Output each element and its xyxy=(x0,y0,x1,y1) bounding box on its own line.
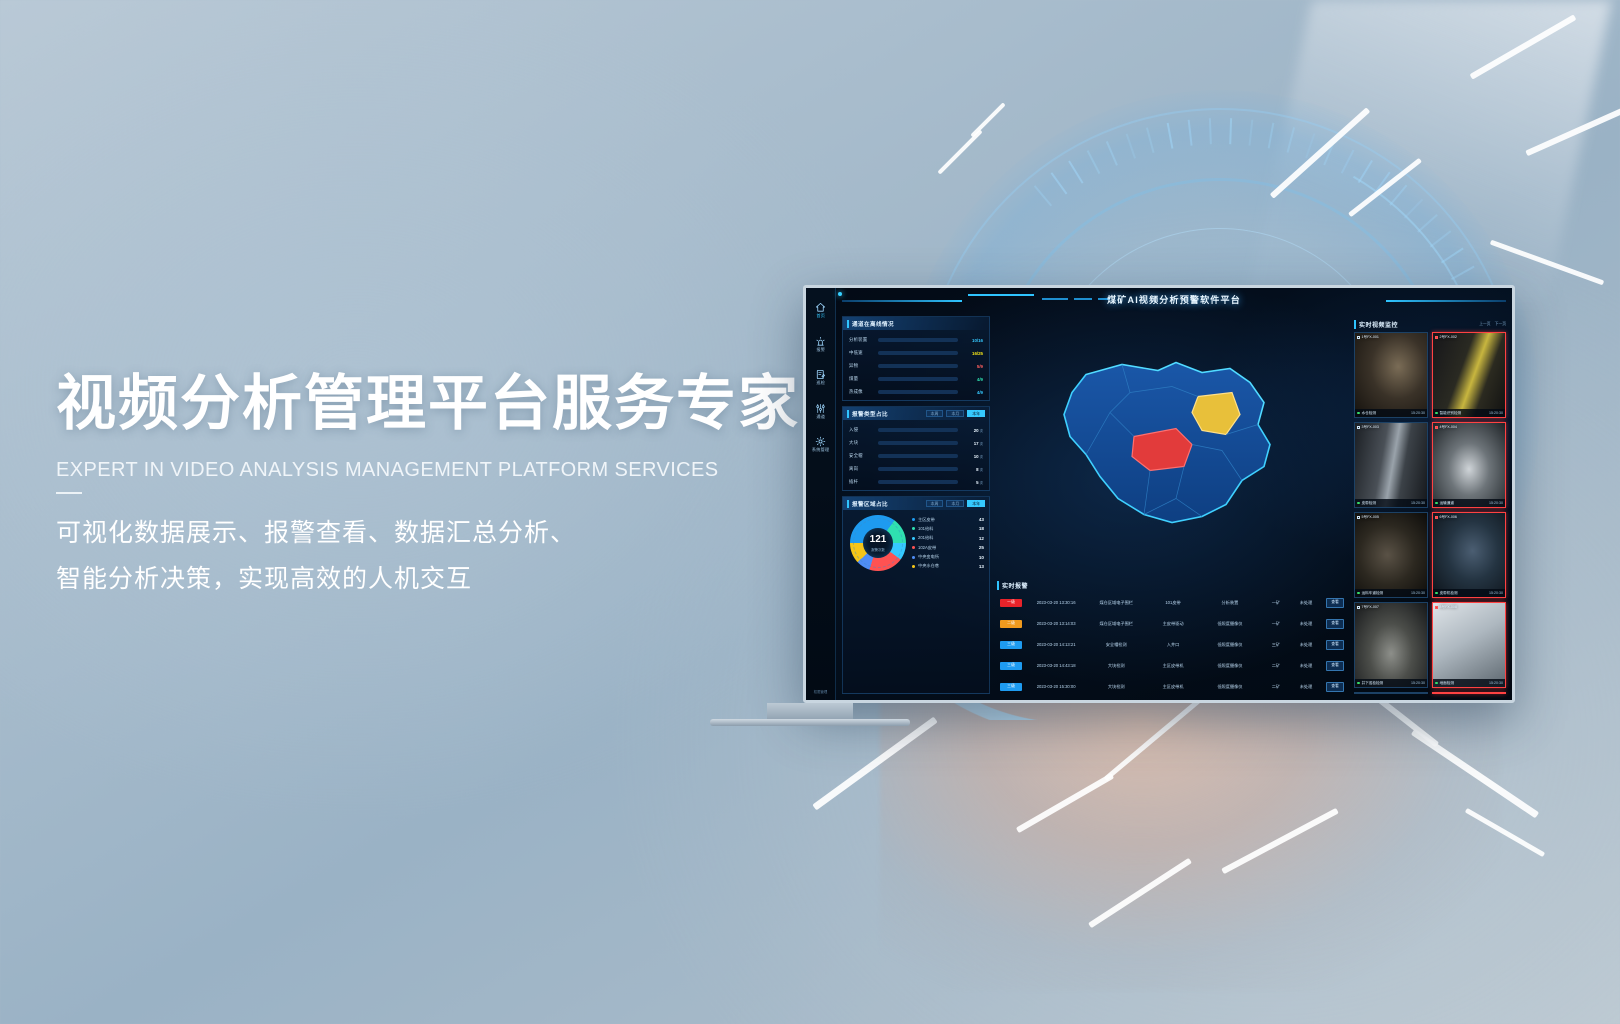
decor-tick xyxy=(1087,150,1101,174)
alarm-area-tabs: 本周本月本年 xyxy=(926,500,989,508)
camera-feed xyxy=(1433,513,1505,597)
alarm-action-cell: 查看 xyxy=(1321,655,1349,676)
alarm-type-cell: 大块检测 xyxy=(1085,676,1147,697)
camera-timestamp: 15:20:30 xyxy=(1411,501,1425,505)
alarm-type-row: 插杆5次 xyxy=(849,479,983,485)
camera-status-icon xyxy=(1435,606,1438,609)
alarm-time-cell: 2023-03-20 15:30:00 xyxy=(1027,676,1085,697)
channel-bar-track xyxy=(878,364,958,368)
camera-status-icon xyxy=(1435,426,1438,429)
camera-tile[interactable]: 8号FX-008地面检测15:20:30 xyxy=(1432,602,1506,688)
camera-feed xyxy=(1355,333,1427,417)
alarm-type-title: 报警类型占比 xyxy=(852,410,888,418)
home-icon xyxy=(815,302,826,313)
alarm-type-tab[interactable]: 本月 xyxy=(946,410,964,418)
camera-feed xyxy=(1433,333,1505,417)
alarm-device-cell: 分析装置 xyxy=(1199,592,1261,613)
camera-tile[interactable]: 9号FX-011矿车检测15:20:30 xyxy=(1354,692,1428,694)
camera-id: 6号FX-006 xyxy=(1435,515,1457,520)
camera-online-dot-icon xyxy=(1435,592,1438,595)
camera-timestamp: 15:20:30 xyxy=(1489,681,1503,685)
alarm-status-cell: 未处理 xyxy=(1291,613,1321,634)
sidebar-items: 首页报警巡检通道系统管理 xyxy=(808,302,834,470)
camera-tile[interactable]: 6号FX-006皮带机检测15:20:30 xyxy=(1432,512,1506,598)
alarm-type-label: 入侵 xyxy=(849,427,873,433)
alarm-area-legend: 主区皮带43101给料18201给料12102A皮带25中央变电所10中央水仓巷… xyxy=(912,517,984,570)
view-button[interactable]: 查看 xyxy=(1326,619,1344,629)
alarm-status-cell: 未处理 xyxy=(1291,634,1321,655)
alarm-device-cell: 低照度摄像仪 xyxy=(1199,613,1261,634)
alarm-type-row: 安全帽10次 xyxy=(849,453,983,459)
camera-footer: 井下巡检检测15:20:30 xyxy=(1355,679,1427,687)
view-button[interactable]: 查看 xyxy=(1326,640,1344,650)
camera-footer: 运料车道检测15:20:30 xyxy=(1355,589,1427,597)
camera-name: 水仓检测 xyxy=(1362,411,1376,416)
alarm-device-cell: 低照度摄像仪 xyxy=(1199,676,1261,697)
alarm-level-cell: 三级 xyxy=(995,676,1027,697)
sidebar-item-2[interactable]: 报警 xyxy=(808,336,834,353)
realtime-alarm-table: 一级2023-03-20 13:30:16煤仓区域电子围栏101皮带分析装置一矿… xyxy=(995,592,1349,697)
camera-name: 地面检测 xyxy=(1440,681,1454,686)
alarm-level-badge: 二级 xyxy=(1000,620,1022,628)
hero-divider xyxy=(56,492,82,494)
decor-ray xyxy=(1525,90,1620,156)
alarm-type-row: 离岗8次 xyxy=(849,466,983,472)
alarm-area-chart-wrap: 121 报警次数 主区皮带43101给料18201给料12102A皮带25中央变… xyxy=(843,510,989,576)
camera-id: 8号FX-008 xyxy=(1435,605,1457,610)
camera-name: 运料车道检测 xyxy=(1362,591,1384,596)
alarm-channel-cell: 主区皮带机 xyxy=(1147,676,1198,697)
realtime-alarm-header: 实时报警 xyxy=(995,578,1349,592)
camera-name: 皮带机检测 xyxy=(1440,591,1458,596)
decor-ray xyxy=(1411,729,1539,819)
video-pager-button[interactable]: 下一页 xyxy=(1495,322,1506,327)
camera-tile[interactable]: 7号FX-007井下巡检检测15:20:30 xyxy=(1354,602,1428,688)
camera-status-icon xyxy=(1357,516,1360,519)
decor-tick xyxy=(1404,199,1423,219)
hero-section: 视频分析管理平台服务专家 EXPERT IN VIDEO ANALYSIS MA… xyxy=(56,372,836,602)
channel-bar-value: 4/9 xyxy=(963,390,983,395)
alarm-level-cell: 三级 xyxy=(995,634,1027,655)
alarm-channel-cell: 101皮带 xyxy=(1147,592,1198,613)
hero-title: 视频分析管理平台服务专家 xyxy=(56,372,836,437)
decor-tick xyxy=(1341,150,1355,174)
sidebar-item-4[interactable]: 通道 xyxy=(808,403,834,420)
alarm-type-cell: 安全帽检测 xyxy=(1085,634,1147,655)
alarm-type-track xyxy=(878,454,958,458)
alarm-channel-cell: 主皮带驱动 xyxy=(1147,613,1198,634)
camera-online-dot-icon xyxy=(1435,412,1438,415)
camera-tile[interactable]: 1号FX-001水仓检测15:20:30 xyxy=(1354,332,1428,418)
alarm-type-panel: 报警类型占比 本周本月本年 入侵20次大块17次安全帽10次离岗8次插杆5次 xyxy=(842,406,990,491)
alarm-type-header: 报警类型占比 本周本月本年 xyxy=(843,407,989,420)
alarm-area-tab[interactable]: 本周 xyxy=(926,500,944,508)
legend-color-dot xyxy=(912,546,915,549)
decor-tick xyxy=(1146,127,1155,153)
alarm-time-cell: 2023-03-20 13:30:16 xyxy=(1027,592,1085,613)
alarm-type-value: 17次 xyxy=(963,441,983,446)
decor-tick xyxy=(1287,127,1295,153)
channel-bar-label: 热成像 xyxy=(849,389,873,395)
legend-value: 25 xyxy=(979,545,984,550)
monitor-frame: 首页报警巡检通道系统管理 权限管理 煤矿AI视频分析预警软件平台 xyxy=(803,285,1515,703)
channel-bar-value: 5/9 xyxy=(963,364,983,369)
inspection-icon xyxy=(815,369,826,380)
decor-tick xyxy=(1249,120,1254,146)
channel-bar-row: 煤量4/9 xyxy=(849,376,983,382)
camera-online-dot-icon xyxy=(1357,682,1360,685)
channel-bar-row: 中低速16/25 xyxy=(849,350,983,356)
view-button[interactable]: 查看 xyxy=(1326,682,1344,692)
camera-id: 3号FX-003 xyxy=(1357,425,1379,430)
camera-footer: 地面检测15:20:30 xyxy=(1433,679,1505,687)
alarm-type-label: 离岗 xyxy=(849,466,873,472)
alarm-device-cell: 低照度摄像仪 xyxy=(1199,655,1261,676)
camera-timestamp: 15:20:30 xyxy=(1489,591,1503,595)
alarm-time-cell: 2023-03-20 13:14:03 xyxy=(1027,613,1085,634)
decor-tick xyxy=(1051,172,1068,194)
middle-column: 实时报警 一级2023-03-20 13:30:16煤仓区域电子围栏101皮带分… xyxy=(995,316,1349,694)
alarm-type-cell: 煤仓区域电子围栏 xyxy=(1085,613,1147,634)
sidebar-item-label: 通道 xyxy=(816,416,825,420)
alarm-level-badge: 一级 xyxy=(1000,599,1022,607)
alarm-type-cell: 煤仓区域电子围栏 xyxy=(1085,592,1147,613)
decor-tick xyxy=(1126,133,1136,158)
alarm-type-bar-list: 入侵20次大块17次安全帽10次离岗8次插杆5次 xyxy=(843,420,989,490)
video-pager-button[interactable]: 上一页 xyxy=(1479,322,1490,327)
legend-color-dot xyxy=(912,556,915,559)
dashboard-content: 通道在离线情况 分析装置10/16中低速16/25异物5/9煤量4/9热成像4/… xyxy=(836,316,1512,700)
alarm-action-cell: 查看 xyxy=(1321,592,1349,613)
legend-color-dot xyxy=(912,537,915,540)
hero-desc-line-1: 可视化数据展示、报警查看、数据汇总分析、 xyxy=(56,519,576,547)
decor-tick xyxy=(1229,118,1232,144)
legend-item[interactable]: 101给料18 xyxy=(912,526,984,532)
legend-label: 102A皮带 xyxy=(918,545,976,551)
channel-bar-track xyxy=(878,351,958,355)
camera-timestamp: 15:20:30 xyxy=(1411,681,1425,685)
sidebar-item-label: 报警 xyxy=(816,348,825,352)
camera-id: 4号FX-004 xyxy=(1435,425,1457,430)
alarm-area-donut-chart: 121 报警次数 xyxy=(850,515,906,571)
alarm-device-cell: 低照度摄像仪 xyxy=(1199,634,1261,655)
alarm-action-cell: 查看 xyxy=(1321,634,1349,655)
decor-tick xyxy=(1358,160,1373,183)
camera-feed xyxy=(1355,423,1427,507)
header-dot-icon xyxy=(838,292,842,296)
donut-center: 121 报警次数 xyxy=(863,528,893,558)
camera-status-icon xyxy=(1357,426,1360,429)
alarm-level-badge: 三级 xyxy=(1000,641,1022,649)
alarm-mine-cell: 一矿 xyxy=(1261,613,1291,634)
camera-name: 井下巡检检测 xyxy=(1362,681,1384,686)
alarm-icon xyxy=(815,336,826,347)
camera-feed xyxy=(1355,513,1427,597)
sidebar-item-1[interactable]: 首页 xyxy=(808,302,834,319)
channel-bar-track xyxy=(878,377,958,381)
camera-feed xyxy=(1433,603,1505,687)
camera-tile[interactable]: 5号FX-005运料车道检测15:20:30 xyxy=(1354,512,1428,598)
camera-tile[interactable]: 10号FX-012运输巷道15:20:30 xyxy=(1432,692,1506,694)
alarm-type-value: 20次 xyxy=(963,428,983,433)
alarm-type-cell: 大块检测 xyxy=(1085,655,1147,676)
alarm-type-label: 插杆 xyxy=(849,479,873,485)
channel-bar-row: 分析装置10/16 xyxy=(849,337,983,343)
dashboard-header: 煤矿AI视频分析预警软件平台 xyxy=(836,288,1512,316)
channel-bar-value: 16/25 xyxy=(963,351,983,356)
legend-color-dot xyxy=(912,527,915,530)
legend-label: 中央水仓巷 xyxy=(918,563,976,569)
sidebar-item-5[interactable]: 系统管理 xyxy=(808,436,834,453)
hero-subtitle-en: EXPERT IN VIDEO ANALYSIS MANAGEMENT PLAT… xyxy=(56,459,836,482)
decor-tick xyxy=(1188,120,1193,146)
camera-online-dot-icon xyxy=(1435,682,1438,685)
alarm-status-cell: 未处理 xyxy=(1291,655,1321,676)
dashboard-title: 煤矿AI视频分析预警软件平台 xyxy=(1107,293,1241,306)
camera-timestamp: 15:20:30 xyxy=(1411,411,1425,415)
alarm-mine-cell: 三矿 xyxy=(1261,634,1291,655)
monitor-stand-neck xyxy=(767,703,853,719)
realtime-alarm-title: 实时报警 xyxy=(1002,581,1028,590)
legend-label: 中央变电所 xyxy=(918,554,976,560)
camera-id: 5号FX-005 xyxy=(1357,515,1379,520)
decor-ray xyxy=(1016,773,1114,833)
dashboard-sidebar: 首页报警巡检通道系统管理 权限管理 xyxy=(806,288,836,700)
channel-bar-track xyxy=(878,390,958,394)
camera-name: 皮带检测 xyxy=(1362,501,1376,506)
province-map[interactable] xyxy=(1022,352,1322,537)
camera-name: 运输通道 xyxy=(1440,501,1454,506)
alarm-level-badge: 三级 xyxy=(1000,662,1022,670)
legend-value: 10 xyxy=(979,555,984,560)
camera-status-icon xyxy=(1435,336,1438,339)
alarm-area-title: 报警区域占比 xyxy=(852,500,888,508)
legend-value: 12 xyxy=(979,536,984,541)
decor-tick xyxy=(1451,266,1475,280)
camera-footer: 皮带机检测15:20:30 xyxy=(1433,589,1505,597)
decor-tick xyxy=(1209,118,1212,144)
channel-bar-list: 分析装置10/16中低速16/25异物5/9煤量4/9热成像4/9 xyxy=(843,330,989,400)
alarm-mine-cell: 一矿 xyxy=(1261,592,1291,613)
camera-id: 1号FX-001 xyxy=(1357,335,1379,340)
channel-bar-row: 热成像4/9 xyxy=(849,389,983,395)
decor-ray xyxy=(812,717,937,811)
camera-timestamp: 15:20:30 xyxy=(1489,501,1503,505)
alarm-type-label: 大块 xyxy=(849,440,873,446)
header-deco-line-2 xyxy=(968,294,1034,296)
header-deco-line-3 xyxy=(1042,298,1068,300)
legend-label: 201给料 xyxy=(918,535,976,541)
alarm-type-track xyxy=(878,428,958,432)
video-pager: 上一页下一页 xyxy=(1479,322,1506,327)
view-button[interactable]: 查看 xyxy=(1326,661,1344,671)
camera-footer: 水仓检测15:20:30 xyxy=(1355,409,1427,417)
legend-value: 18 xyxy=(979,526,984,531)
camera-footer: 智能识别检测15:20:30 xyxy=(1433,409,1505,417)
alarm-level-cell: 二级 xyxy=(995,613,1027,634)
alarm-table-row[interactable]: 三级2023-03-20 14:43:18大块检测主区皮带机低照度摄像仪二矿未处… xyxy=(995,655,1349,676)
alarm-level-cell: 一级 xyxy=(995,592,1027,613)
camera-online-dot-icon xyxy=(1357,592,1360,595)
map-panel xyxy=(995,316,1349,573)
camera-id: 2号FX-002 xyxy=(1435,335,1457,340)
left-column: 通道在离线情况 分析装置10/16中低速16/25异物5/9煤量4/9热成像4/… xyxy=(842,316,990,694)
channel-panel-header: 通道在离线情况 xyxy=(843,317,989,330)
decor-ray xyxy=(1088,858,1192,928)
legend-color-dot xyxy=(912,565,915,568)
alarm-type-row: 入侵20次 xyxy=(849,427,983,433)
alarm-table-row[interactable]: 二级2023-03-20 13:14:03煤仓区域电子围栏主皮带驱动低照度摄像仪… xyxy=(995,613,1349,634)
camera-timestamp: 15:20:30 xyxy=(1489,411,1503,415)
alarm-status-cell: 未处理 xyxy=(1291,592,1321,613)
legend-value: 43 xyxy=(979,517,984,522)
video-panel-header: 实时视频监控 上一页下一页 xyxy=(1354,316,1506,332)
legend-item[interactable]: 主区皮带43 xyxy=(912,517,984,523)
alarm-type-label: 安全帽 xyxy=(849,453,873,459)
channel-panel-title: 通道在离线情况 xyxy=(852,320,894,328)
alarm-type-track xyxy=(878,467,958,471)
camera-online-dot-icon xyxy=(1357,412,1360,415)
channel-bar-label: 分析装置 xyxy=(849,337,873,343)
camera-footer: 运输巷道15:20:30 xyxy=(1433,692,1505,693)
alarm-area-header: 报警区域占比 本周本月本年 xyxy=(843,497,989,510)
camera-name: 智能识别检测 xyxy=(1440,411,1462,416)
sidebar-item-label: 巡检 xyxy=(816,382,825,386)
decor-tick xyxy=(1167,123,1174,149)
dashboard-screen: 首页报警巡检通道系统管理 权限管理 煤矿AI视频分析预警软件平台 xyxy=(806,288,1512,700)
gear-icon xyxy=(815,436,826,447)
camera-footer: 运输通道15:20:30 xyxy=(1433,499,1505,507)
camera-status-icon xyxy=(1435,516,1438,519)
channel-status-panel: 通道在离线情况 分析装置10/16中低速16/25异物5/9煤量4/9热成像4/… xyxy=(842,316,990,401)
camera-feed xyxy=(1355,603,1427,687)
video-panel-title: 实时视频监控 xyxy=(1359,320,1398,329)
camera-online-dot-icon xyxy=(1435,502,1438,505)
alarm-time-cell: 2023-03-20 14:13:21 xyxy=(1027,634,1085,655)
legend-item[interactable]: 中央变电所10 xyxy=(912,554,984,560)
sidebar-item-label: 系统管理 xyxy=(812,449,829,453)
alarm-action-cell: 查看 xyxy=(1321,676,1349,697)
alarm-level-badge: 三级 xyxy=(1000,683,1022,691)
alarm-mine-cell: 二矿 xyxy=(1261,676,1291,697)
alarm-channel-cell: 主区皮带机 xyxy=(1147,655,1198,676)
channel-icon xyxy=(815,403,826,414)
header-deco-line-1 xyxy=(842,300,962,302)
alarm-type-value: 8次 xyxy=(963,467,983,472)
donut-center-value: 121 xyxy=(870,535,887,545)
decor-tick xyxy=(1268,123,1275,149)
legend-color-dot xyxy=(912,518,915,521)
alarm-type-value: 10次 xyxy=(963,454,983,459)
camera-timestamp: 15:20:30 xyxy=(1411,591,1425,595)
alarm-area-tab[interactable]: 本月 xyxy=(946,500,964,508)
hero-desc-line-2: 智能分析决策，实现高效的人机交互 xyxy=(56,565,472,593)
camera-tile[interactable]: 4号FX-004运输通道15:20:30 xyxy=(1432,422,1506,508)
alarm-channel-cell: 入井口 xyxy=(1147,634,1198,655)
channel-bar-track xyxy=(878,338,958,342)
decor-tick xyxy=(1034,185,1052,206)
decor-tick xyxy=(1441,248,1464,264)
decor-tick xyxy=(1417,214,1438,233)
alarm-level-cell: 三级 xyxy=(995,655,1027,676)
alarm-type-tab[interactable]: 本年 xyxy=(967,410,985,418)
alarm-mine-cell: 二矿 xyxy=(1261,655,1291,676)
camera-footer: 皮带检测15:20:30 xyxy=(1355,499,1427,507)
alarm-type-tabs: 本周本月本年 xyxy=(926,410,989,418)
decor-tick xyxy=(1068,160,1083,183)
alarm-table-row[interactable]: 一级2023-03-20 13:30:16煤仓区域电子围栏101皮带分析装置一矿… xyxy=(995,592,1349,613)
dashboard-body: 煤矿AI视频分析预警软件平台 通道在离线情况 分析装置10/16中低速16/25… xyxy=(836,288,1512,700)
channel-bar-label: 中低速 xyxy=(849,350,873,356)
decor-tick xyxy=(1389,185,1407,206)
alarm-area-tab[interactable]: 本年 xyxy=(967,500,985,508)
alarm-type-row: 大块17次 xyxy=(849,440,983,446)
channel-bar-label: 异物 xyxy=(849,363,873,369)
legend-item[interactable]: 中央水仓巷13 xyxy=(912,563,984,569)
decor-ray xyxy=(1470,14,1577,79)
legend-item[interactable]: 102A皮带25 xyxy=(912,545,984,551)
sidebar-item-label: 首页 xyxy=(816,315,825,319)
decor-ray xyxy=(1221,808,1339,874)
legend-label: 主区皮带 xyxy=(918,517,976,523)
right-column: 实时视频监控 上一页下一页 1号FX-001水仓检测15:20:302号FX-0… xyxy=(1354,316,1506,694)
legend-label: 101给料 xyxy=(918,526,976,532)
header-deco-line-6 xyxy=(1386,300,1506,302)
camera-footer: 矿车检测15:20:30 xyxy=(1355,692,1427,693)
decor-tick xyxy=(1430,230,1452,247)
alarm-type-value: 5次 xyxy=(963,480,983,485)
donut-center-label: 报警次数 xyxy=(871,547,885,552)
alarm-time-cell: 2023-03-20 14:43:18 xyxy=(1027,655,1085,676)
alarm-status-cell: 未处理 xyxy=(1291,676,1321,697)
camera-tile[interactable]: 2号FX-002智能识别检测15:20:30 xyxy=(1432,332,1506,418)
legend-value: 13 xyxy=(979,564,984,569)
camera-tile[interactable]: 3号FX-003皮带检测15:20:30 xyxy=(1354,422,1428,508)
channel-bar-label: 煤量 xyxy=(849,376,873,382)
decor-ray xyxy=(1104,694,1207,781)
alarm-type-tab[interactable]: 本周 xyxy=(926,410,944,418)
header-deco-line-4 xyxy=(1074,298,1092,300)
alarm-type-track xyxy=(878,441,958,445)
alarm-action-cell: 查看 xyxy=(1321,613,1349,634)
channel-bar-value: 10/16 xyxy=(963,338,983,343)
alarm-table-row[interactable]: 三级2023-03-20 14:13:21安全帽检测入井口低照度摄像仪三矿未处理… xyxy=(995,634,1349,655)
channel-bar-row: 异物5/9 xyxy=(849,363,983,369)
video-grid: 1号FX-001水仓检测15:20:302号FX-002智能识别检测15:20:… xyxy=(1354,332,1506,694)
channel-bar-value: 4/9 xyxy=(963,377,983,382)
camera-online-dot-icon xyxy=(1357,502,1360,505)
map-region-highlight-red[interactable] xyxy=(1132,428,1192,470)
sidebar-item-3[interactable]: 巡检 xyxy=(808,369,834,386)
camera-feed xyxy=(1433,423,1505,507)
realtime-alarm-panel: 实时报警 一级2023-03-20 13:30:16煤仓区域电子围栏101皮带分… xyxy=(995,578,1349,694)
sidebar-footer-label: 权限管理 xyxy=(806,690,835,694)
monitor-stand-base xyxy=(710,719,910,726)
decor-tick xyxy=(1106,141,1118,166)
camera-status-icon xyxy=(1357,606,1360,609)
alarm-table-row[interactable]: 三级2023-03-20 15:30:00大块检测主区皮带机低照度摄像仪二矿未处… xyxy=(995,676,1349,697)
camera-id: 7号FX-007 xyxy=(1357,605,1379,610)
alarm-area-panel: 报警区域占比 本周本月本年 121 报警次数 主区皮带43 xyxy=(842,496,990,694)
view-button[interactable]: 查看 xyxy=(1326,598,1344,608)
camera-status-icon xyxy=(1357,336,1360,339)
legend-item[interactable]: 201给料12 xyxy=(912,535,984,541)
alarm-type-track xyxy=(878,480,958,484)
